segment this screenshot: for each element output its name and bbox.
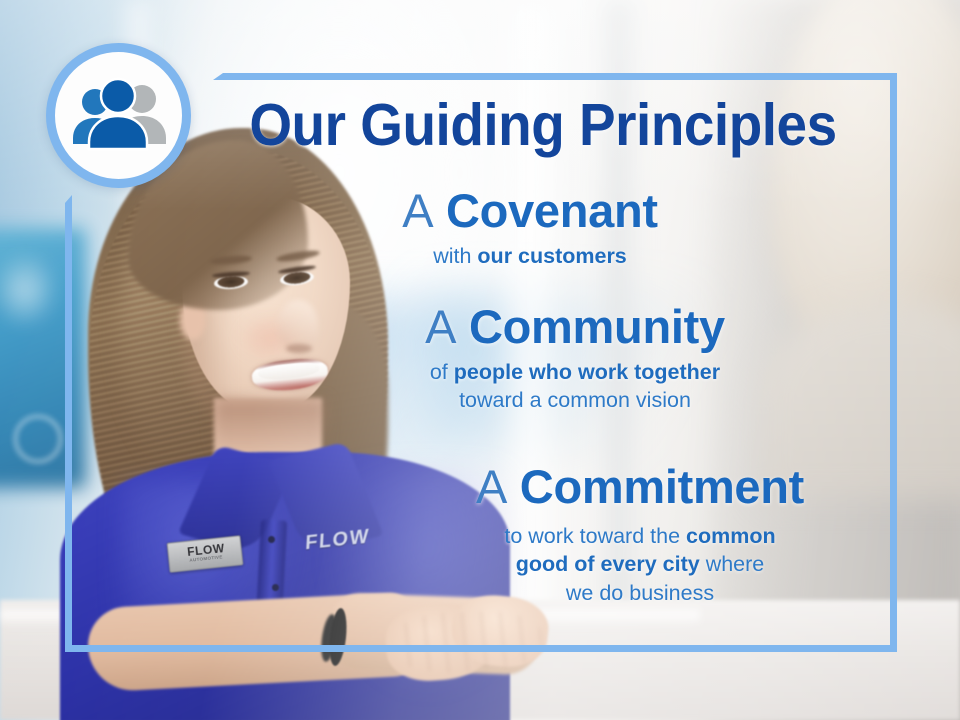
subtext-plain: with xyxy=(433,244,477,268)
article-word: A xyxy=(476,460,507,513)
subtext-emphasis: good of every city xyxy=(516,552,700,576)
subtext-emphasis: our customers xyxy=(477,244,626,268)
article-word: A xyxy=(402,184,433,237)
principle-subtext-commitment: to work toward the commongood of every c… xyxy=(390,522,890,608)
fingers xyxy=(391,609,543,674)
principle-subtext-community: of people who work togethertoward a comm… xyxy=(340,359,810,415)
principle-block-community: A Community of people who work togethert… xyxy=(340,302,810,415)
subtext-plain: of xyxy=(430,360,454,384)
principle-block-covenant: A Covenant with our customers xyxy=(300,186,760,271)
principle-keyword: Commitment xyxy=(520,460,804,513)
article-word: A xyxy=(425,300,456,353)
subtext-plain: toward a common vision xyxy=(459,388,691,412)
subtext-plain: where xyxy=(700,552,765,576)
subtext-emphasis: common xyxy=(686,524,776,548)
poster-canvas: FLOW FLOW AUTOMOTIVE xyxy=(0,0,960,720)
principle-keyword: Covenant xyxy=(446,184,658,237)
principle-title-community: A Community xyxy=(340,302,810,352)
group-of-people-icon xyxy=(67,77,171,155)
principle-title-commitment: A Commitment xyxy=(390,462,890,512)
nostril xyxy=(286,344,312,353)
subtext-emphasis: people who work together xyxy=(454,360,720,384)
polo-button-top xyxy=(268,536,275,543)
subtext-plain: to work toward the xyxy=(504,524,686,548)
principle-subtext-covenant: with our customers xyxy=(300,243,760,271)
principle-keyword: Community xyxy=(469,300,725,353)
polo-button-bottom xyxy=(272,584,279,591)
subtext-plain: we do business xyxy=(566,581,714,605)
principle-title-covenant: A Covenant xyxy=(300,186,760,236)
page-title: Our Guiding Principles xyxy=(236,96,850,155)
group-of-people-badge xyxy=(46,43,191,188)
principle-block-commitment: A Commitment to work toward the commongo… xyxy=(390,462,890,608)
